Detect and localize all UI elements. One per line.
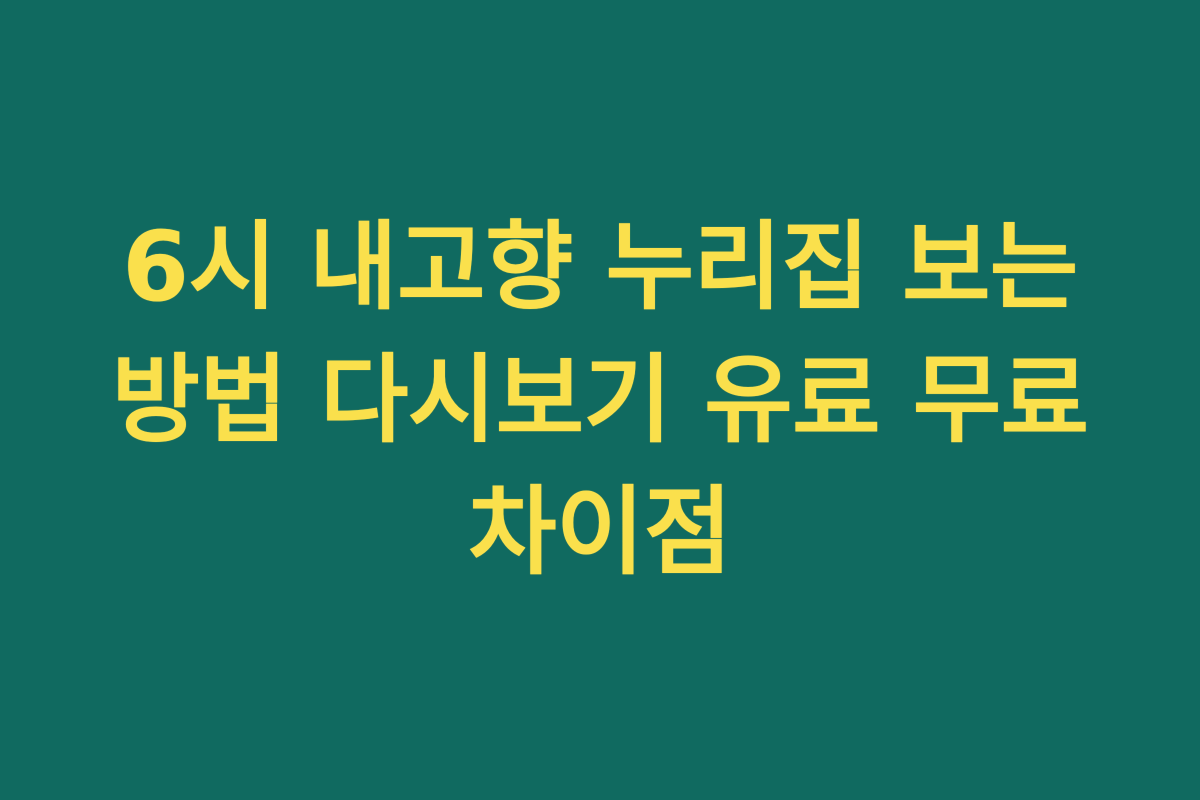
- page-title: 6시 내고향 누리집 보는 방법 다시보기 유료 무료 차이점: [65, 201, 1135, 598]
- title-line-3: 차이점: [65, 466, 1135, 598]
- thumbnail-card: 6시 내고향 누리집 보는 방법 다시보기 유료 무료 차이점: [0, 0, 1200, 800]
- title-line-2: 방법 다시보기 유료 무료: [65, 334, 1135, 466]
- title-line-1: 6시 내고향 누리집 보는: [65, 201, 1135, 333]
